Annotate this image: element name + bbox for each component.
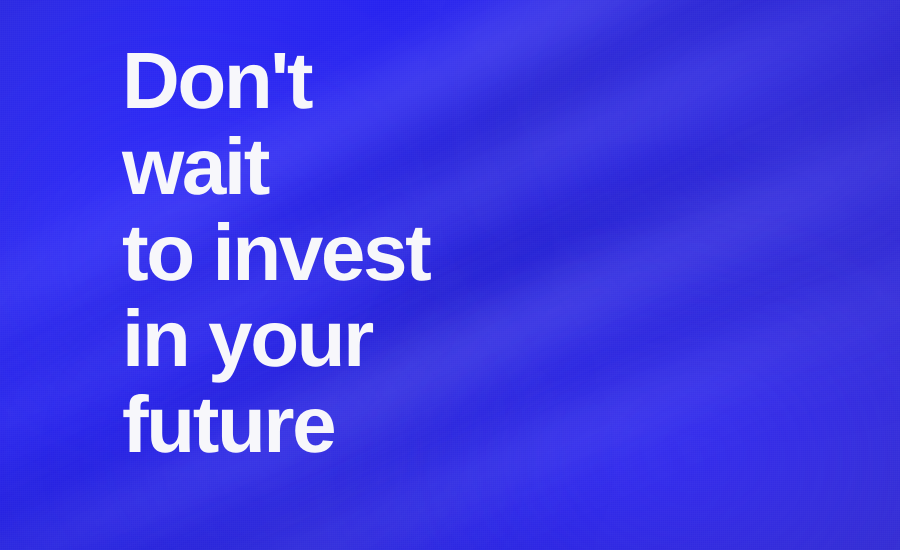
headline-line-5: future (122, 382, 429, 468)
headline-line-3: to invest (122, 210, 429, 296)
headline-line-1: Don't (122, 38, 429, 124)
headline-line-4: in your (122, 296, 429, 382)
headline: Don't wait to invest in your future (122, 38, 429, 468)
promo-poster: Don't wait to invest in your future (0, 0, 900, 550)
headline-line-2: wait (122, 124, 429, 210)
